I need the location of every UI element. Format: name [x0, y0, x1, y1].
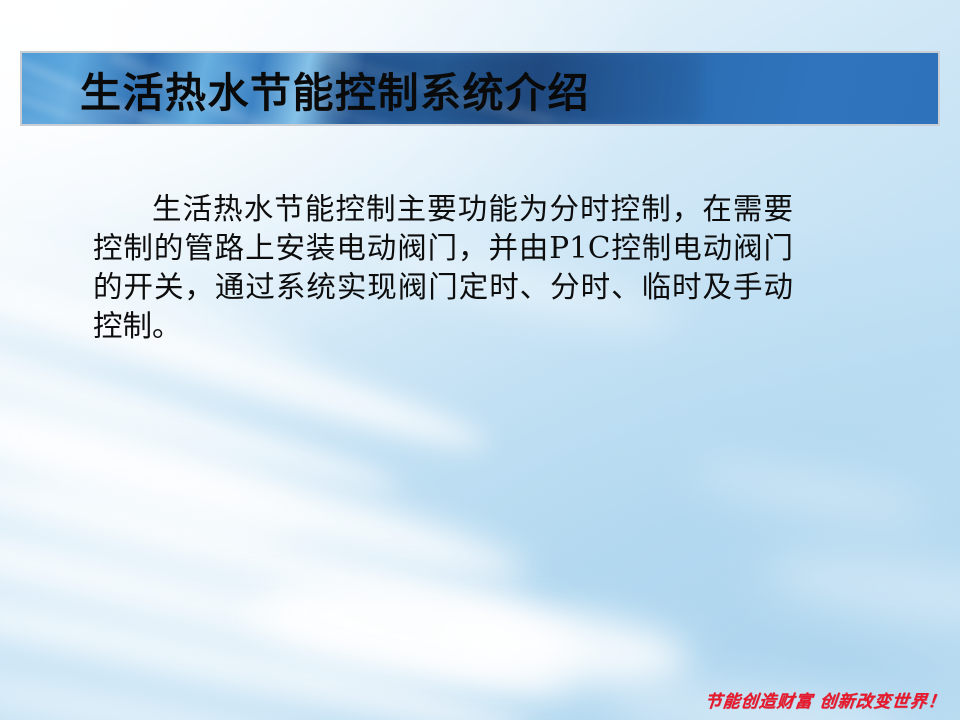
body-paragraph: 生活热水节能控制主要功能为分时控制，在需要控制的管路上安装电动阀门，并由P1C控…: [93, 190, 793, 346]
slide-canvas: 生活热水节能控制系统介绍 生活热水节能控制主要功能为分时控制，在需要控制的管路上…: [0, 0, 960, 720]
slide-title-banner: 生活热水节能控制系统介绍: [20, 51, 940, 126]
page-title: 生活热水节能控制系统介绍: [80, 53, 590, 124]
footer-slogan: 节能创造财富 创新改变世界！: [704, 687, 948, 712]
